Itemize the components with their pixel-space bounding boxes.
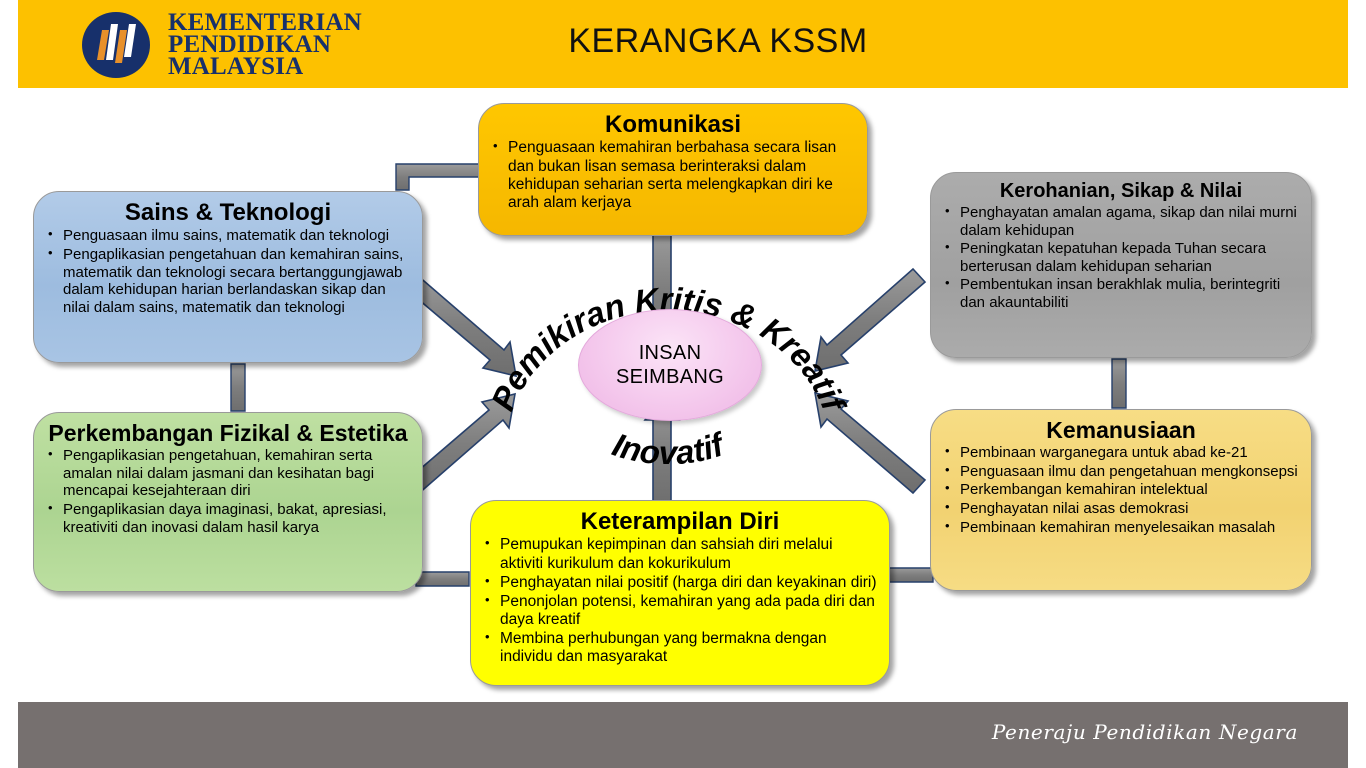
header-bar: KEMENTERIAN PENDIDIKAN MALAYSIA KERANGKA… xyxy=(18,0,1348,88)
box-keterampilan-list: Pemupukan kepimpinan dan sahsiah diri me… xyxy=(481,536,879,666)
list-item: Pembinaan kemahiran menyelesaikan masala… xyxy=(941,519,1301,537)
connector-keterampilan-kemanusiaan xyxy=(884,568,933,582)
arc-bottom-text: Inovatif xyxy=(608,425,730,472)
list-item: Pengaplikasian daya imaginasi, bakat, ap… xyxy=(44,501,412,536)
box-keterampilan-diri[interactable]: Keterampilan Diri Pemupukan kepimpinan d… xyxy=(470,500,890,686)
list-item: Membina perhubungan yang bermakna dengan… xyxy=(481,630,879,666)
box-kemanusiaan[interactable]: Kemanusiaan Pembinaan warganegara untuk … xyxy=(930,409,1312,591)
connector-sains-perkembangan xyxy=(231,364,245,411)
list-item: Pembentukan insan berakhlak mulia, berin… xyxy=(941,276,1301,311)
list-item: Pembinaan warganegara untuk abad ke-21 xyxy=(941,444,1301,462)
box-komunikasi-list: Penguasaan kemahiran berbahasa secara li… xyxy=(489,139,857,212)
box-keterampilan-title: Keterampilan Diri xyxy=(481,509,879,534)
center-line-1: INSAN xyxy=(639,341,702,365)
list-item: Pemupukan kepimpinan dan sahsiah diri me… xyxy=(481,536,879,572)
list-item: Penguasaan kemahiran berbahasa secara li… xyxy=(489,139,857,212)
box-perkembangan-fizikal-estetika[interactable]: Perkembangan Fizikal & Estetika Pengapli… xyxy=(33,412,423,592)
box-kemanusiaan-title: Kemanusiaan xyxy=(941,418,1301,442)
list-item: Penghayatan nilai asas demokrasi xyxy=(941,500,1301,518)
box-sains-title: Sains & Teknologi xyxy=(44,200,412,225)
box-sains-teknologi[interactable]: Sains & Teknologi Penguasaan ilmu sains,… xyxy=(33,191,423,363)
center-insan-seimbang: INSAN SEIMBANG xyxy=(578,309,762,421)
footer-bar: Peneraju Pendidikan Negara xyxy=(18,702,1348,768)
list-item: Penonjolan potensi, kemahiran yang ada p… xyxy=(481,593,879,629)
box-kemanusiaan-list: Pembinaan warganegara untuk abad ke-21 P… xyxy=(941,444,1301,536)
center-cluster: Pemikiran Kritis & Kreatif Inovatif INSA… xyxy=(488,262,848,472)
center-line-2: SEIMBANG xyxy=(616,365,724,389)
list-item: Penguasaan ilmu dan pengetahuan mengkons… xyxy=(941,463,1301,481)
box-kerohanian-list: Penghayatan amalan agama, sikap dan nila… xyxy=(941,204,1301,311)
connector-perkembangan-keterampilan xyxy=(416,572,469,586)
box-sains-list: Penguasaan ilmu sains, matematik dan tek… xyxy=(44,227,412,316)
list-item: Peningkatan kepatuhan kepada Tuhan secar… xyxy=(941,240,1301,275)
list-item: Pengaplikasian pengetahuan dan kemahiran… xyxy=(44,246,412,316)
list-item: Penguasaan ilmu sains, matematik dan tek… xyxy=(44,227,412,245)
box-perkembangan-title: Perkembangan Fizikal & Estetika xyxy=(44,421,412,445)
box-kerohanian-title: Kerohanian, Sikap & Nilai xyxy=(941,181,1301,202)
box-komunikasi[interactable]: Komunikasi Penguasaan kemahiran berbahas… xyxy=(478,103,868,236)
slide-canvas: KEMENTERIAN PENDIDIKAN MALAYSIA KERANGKA… xyxy=(0,0,1366,768)
box-komunikasi-title: Komunikasi xyxy=(489,112,857,137)
connector-kerohanian-kemanusiaan xyxy=(1112,359,1126,408)
list-item: Penghayatan nilai positif (harga diri da… xyxy=(481,574,879,592)
page-title: KERANGKA KSSM xyxy=(18,22,1348,61)
list-item: Pengaplikasian pengetahuan, kemahiran se… xyxy=(44,447,412,500)
list-item: Perkembangan kemahiran intelektual xyxy=(941,481,1301,499)
box-kerohanian-sikap-nilai[interactable]: Kerohanian, Sikap & Nilai Penghayatan am… xyxy=(930,172,1312,358)
list-item: Penghayatan amalan agama, sikap dan nila… xyxy=(941,204,1301,239)
box-perkembangan-list: Pengaplikasian pengetahuan, kemahiran se… xyxy=(44,447,412,536)
footer-tagline: Peneraju Pendidikan Negara xyxy=(992,720,1298,744)
